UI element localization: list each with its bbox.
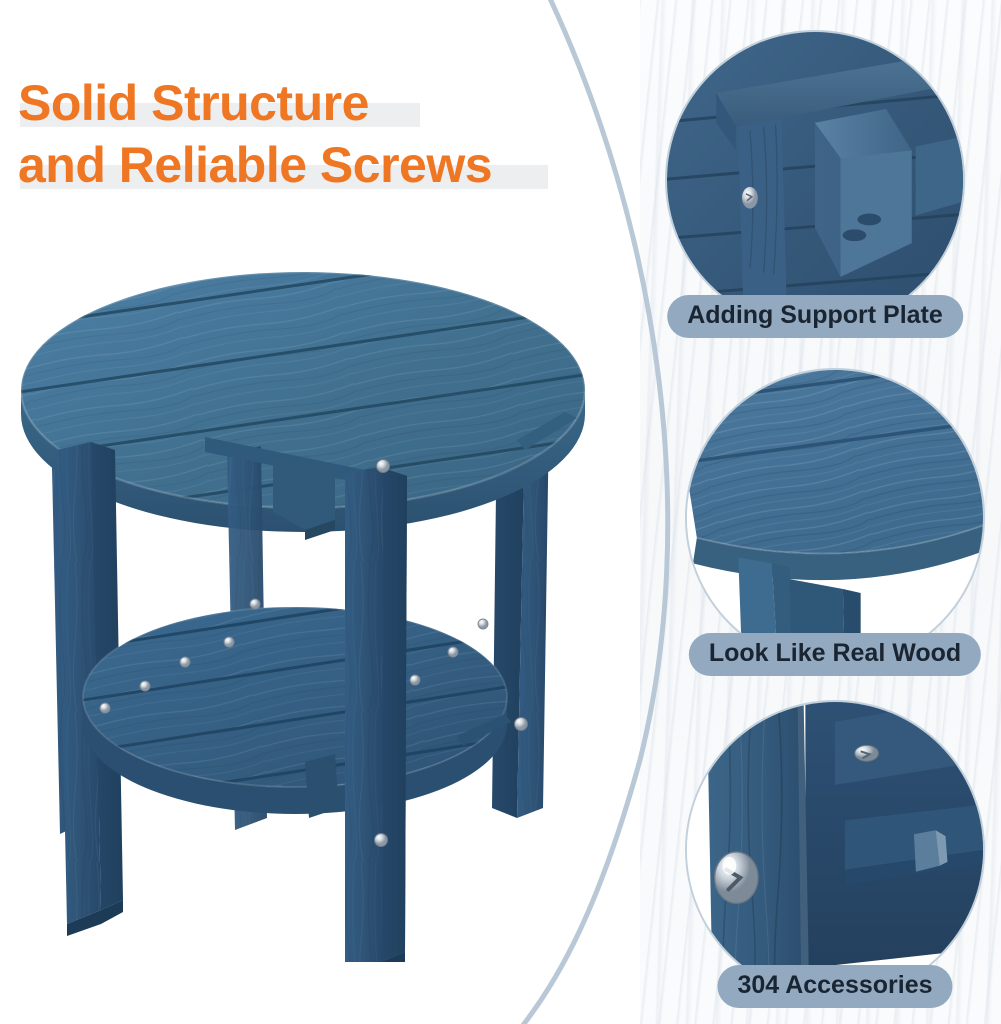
table-lower-shelf (45, 574, 565, 814)
headline-line-2: and Reliable Screws (18, 134, 618, 196)
screw-head (377, 460, 390, 473)
screw-head (410, 675, 420, 685)
screw-head (515, 718, 528, 731)
feature-image-304-accessories (685, 700, 985, 1000)
feature-label-look-like-real-wood: Look Like Real Wood (689, 633, 981, 676)
headline-line-2-text: and Reliable Screws (18, 134, 618, 196)
screw-head (180, 657, 190, 667)
feature-card-look-like-real-wood: Look Like Real Wood (685, 368, 985, 668)
feature-card-adding-support-plate: Adding Support Plate (665, 30, 965, 330)
screw-head (448, 647, 458, 657)
table-leg-front-right-overlay (345, 468, 407, 962)
screw-head (478, 619, 488, 629)
screw-head (100, 703, 110, 713)
page-title: Solid Structure and Reliable Screws (18, 72, 618, 196)
shelf-support-strut (305, 754, 339, 818)
product-image-side-table (5, 262, 605, 962)
feature-image-look-like-real-wood (685, 368, 985, 668)
headline-line-1: Solid Structure (18, 72, 618, 134)
feature-label-adding-support-plate: Adding Support Plate (667, 295, 963, 338)
feature-card-304-accessories: 304 Accessories (685, 700, 985, 1000)
screw-icon (715, 852, 758, 903)
screw-icon (742, 187, 758, 209)
infographic-page: Solid Structure and Reliable Screws (0, 0, 1001, 1024)
screw-head (250, 599, 260, 609)
screw-head (375, 834, 388, 847)
headline-line-1-text: Solid Structure (18, 72, 618, 134)
feature-image-adding-support-plate (665, 30, 965, 330)
screw-icon (855, 745, 879, 761)
screw-head (224, 637, 234, 647)
screw-head (140, 681, 150, 691)
feature-label-304-accessories: 304 Accessories (717, 965, 952, 1008)
